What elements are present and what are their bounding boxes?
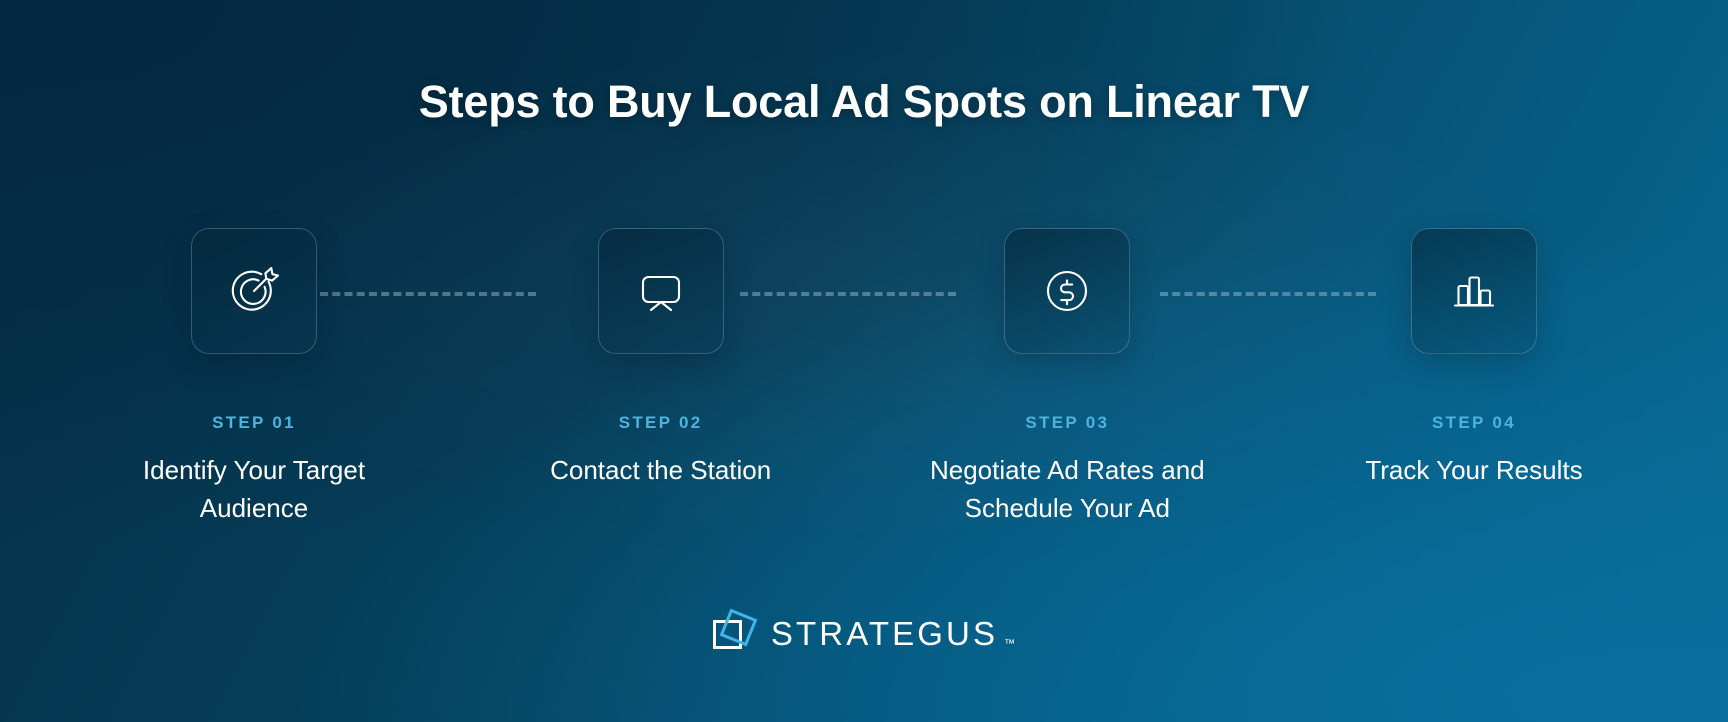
page-title: Steps to Buy Local Ad Spots on Linear TV — [0, 75, 1728, 129]
step-eyebrow-1: STEP 01 — [212, 413, 296, 433]
step-item-4: STEP 04 Track Your Results — [1320, 228, 1628, 490]
step-icon-card-4 — [1411, 228, 1537, 354]
step-eyebrow-4: STEP 04 — [1432, 413, 1516, 433]
step-title-4: Track Your Results — [1365, 452, 1582, 490]
strategus-squares-icon — [713, 613, 755, 655]
step-eyebrow-2: STEP 02 — [619, 413, 703, 433]
step-icon-card-3 — [1004, 228, 1130, 354]
bar-chart-icon — [1448, 265, 1500, 317]
step-title-2: Contact the Station — [550, 452, 771, 490]
step-item-1: STEP 01 Identify Your Target Audience — [100, 228, 408, 528]
step-item-3: STEP 03 Negotiate Ad Rates and Schedule … — [913, 228, 1221, 528]
step-icon-card-1 — [191, 228, 317, 354]
step-title-1: Identify Your Target Audience — [100, 452, 408, 528]
tv-monitor-icon — [635, 265, 687, 317]
trademark-symbol: ™ — [1004, 638, 1015, 650]
step-title-3: Negotiate Ad Rates and Schedule Your Ad — [913, 452, 1221, 528]
target-arrow-icon — [228, 265, 280, 317]
brand-logo: STRATEGUS ™ — [0, 613, 1728, 655]
step-eyebrow-3: STEP 03 — [1025, 413, 1109, 433]
step-icon-card-2 — [598, 228, 724, 354]
brand-wordmark: STRATEGUS — [771, 615, 998, 653]
step-item-2: STEP 02 Contact the Station — [507, 228, 815, 490]
steps-row: STEP 01 Identify Your Target Audience ST… — [100, 228, 1628, 528]
dollar-circle-icon — [1041, 265, 1093, 317]
